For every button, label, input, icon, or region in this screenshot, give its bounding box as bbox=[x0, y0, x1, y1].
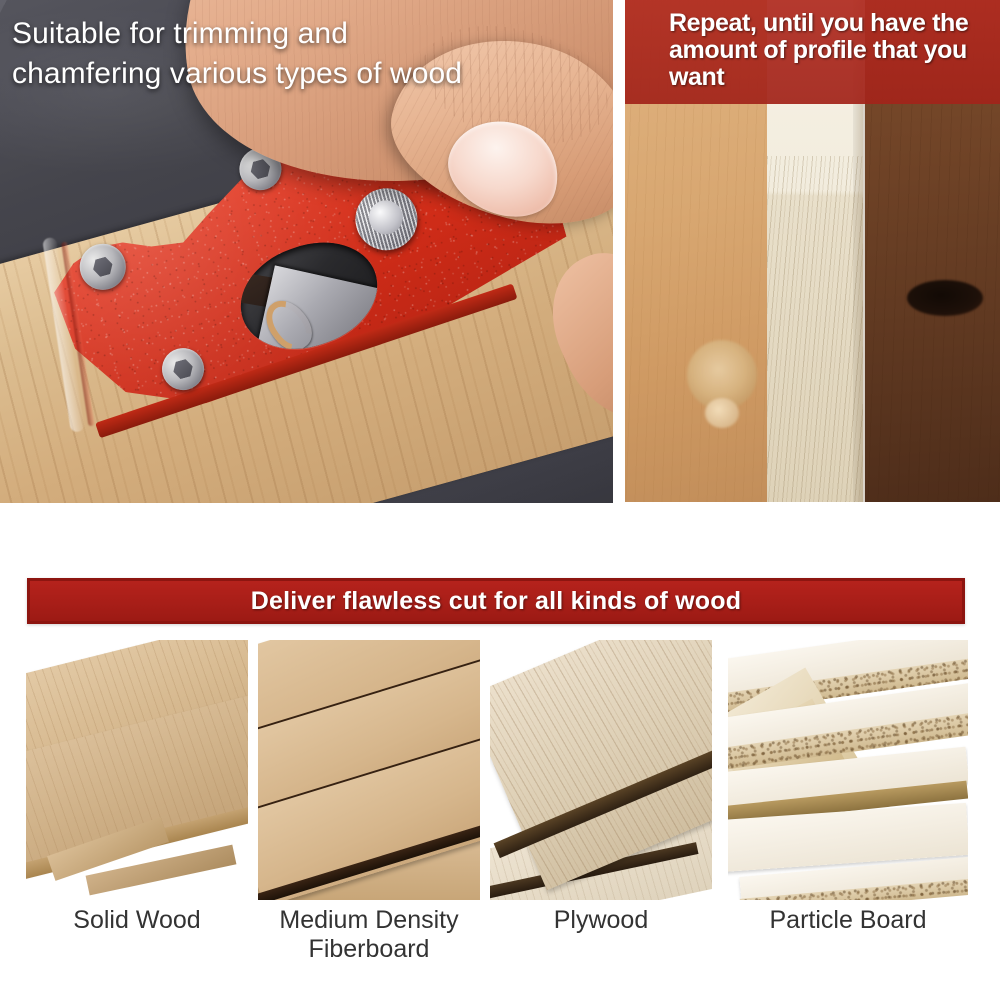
sample-label-line1: Solid Wood bbox=[26, 906, 248, 935]
material-samples-row: Solid Wood Medium Density Fiberboard bbox=[0, 640, 1000, 960]
sample-label-line1: Medium Density bbox=[258, 906, 480, 935]
sample-solid-wood: Solid Wood bbox=[26, 640, 248, 900]
sample-label-line2: Fiberboard bbox=[258, 935, 480, 964]
particle-board-photo bbox=[728, 640, 968, 900]
hand-plane-in-use-photo: Suitable for trimming and chamfering var… bbox=[0, 0, 613, 503]
plywood-photo bbox=[490, 640, 712, 900]
sample-label: Solid Wood bbox=[26, 906, 248, 935]
dark-knot bbox=[907, 280, 983, 316]
product-infographic: Suitable for trimming and chamfering var… bbox=[0, 0, 1000, 1000]
wood-knot bbox=[705, 398, 739, 428]
sample-label-line1: Plywood bbox=[490, 906, 712, 935]
sample-label-line1: Particle Board bbox=[728, 906, 968, 935]
headline-banner-text: Deliver flawless cut for all kinds of wo… bbox=[251, 587, 741, 616]
sample-plywood: Plywood bbox=[490, 640, 712, 900]
mdf-photo bbox=[258, 640, 480, 900]
headline-banner: Deliver flawless cut for all kinds of wo… bbox=[27, 578, 965, 624]
sample-label: Plywood bbox=[490, 906, 712, 935]
solid-wood-photo bbox=[26, 640, 248, 900]
top-left-caption: Suitable for trimming and chamfering var… bbox=[12, 14, 492, 93]
sample-label: Particle Board bbox=[728, 906, 968, 935]
sample-mdf: Medium Density Fiberboard bbox=[258, 640, 480, 900]
post-grain-texture bbox=[767, 156, 863, 502]
sample-label: Medium Density Fiberboard bbox=[258, 906, 480, 963]
wood-post-profile-photo: Repeat, until you have the amount of pro… bbox=[625, 0, 1000, 502]
top-right-banner-text: Repeat, until you have the amount of pro… bbox=[669, 10, 989, 91]
sample-particle-board: Particle Board bbox=[728, 640, 968, 900]
